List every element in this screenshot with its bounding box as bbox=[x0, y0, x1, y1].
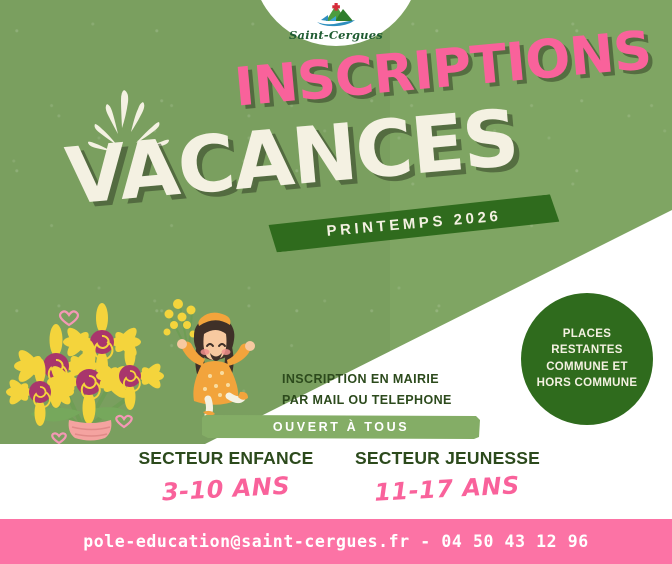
sector-title: SECTEUR ENFANCE bbox=[138, 448, 314, 469]
inscription-info-line2: PAR MAIL OU TELEPHONE bbox=[282, 390, 452, 411]
sector-jeunesse: SECTEUR JEUNESSE 11-17 ANS bbox=[355, 448, 539, 503]
contact-bar: pole-education@saint-cergues.fr - 04 50 … bbox=[0, 519, 672, 564]
logo-name-text: Saint-Cergues bbox=[289, 28, 383, 42]
open-to-all-banner: OUVERT À TOUS bbox=[202, 415, 480, 439]
inscription-info-line1: INSCRIPTION EN MAIRIE bbox=[282, 369, 452, 390]
sector-age: 3-10 ANS bbox=[137, 470, 314, 507]
sector-enfance: SECTEUR ENFANCE 3-10 ANS bbox=[138, 448, 314, 503]
mountain-sailboat-logo-icon bbox=[313, 3, 359, 27]
places-line: RESTANTES bbox=[551, 345, 623, 357]
open-to-all-text: OUVERT À TOUS bbox=[273, 420, 409, 434]
contact-text[interactable]: pole-education@saint-cergues.fr - 04 50 … bbox=[83, 532, 589, 551]
places-line: HORS COMMUNE bbox=[537, 378, 638, 390]
dancing-girl-icon bbox=[158, 292, 264, 417]
sector-title: SECTEUR JEUNESSE bbox=[355, 448, 539, 469]
places-badge: PLACES RESTANTES COMMUNE ET HORS COMMUNE bbox=[521, 293, 653, 425]
daisy-bouquet-icon bbox=[0, 262, 174, 444]
sector-age: 11-17 ANS bbox=[354, 470, 539, 508]
places-line: PLACES bbox=[563, 329, 611, 341]
inscription-info: INSCRIPTION EN MAIRIE PAR MAIL OU TELEPH… bbox=[282, 369, 452, 410]
places-line: COMMUNE ET bbox=[546, 362, 628, 374]
poster-canvas: Saint-Cergues INSCRIPTIONS VACANCES PRIN… bbox=[0, 0, 672, 564]
